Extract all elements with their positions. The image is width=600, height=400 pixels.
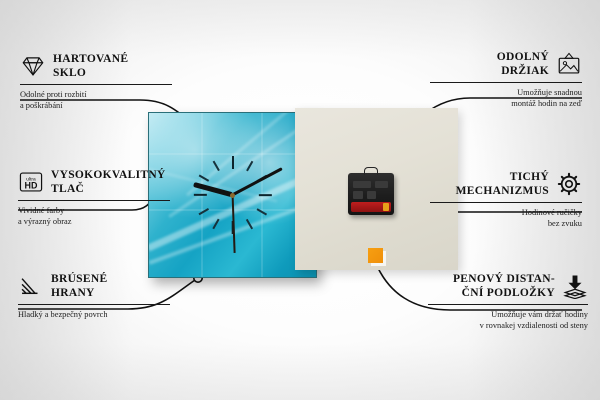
feature-title: BRÚSENÉHRANY — [51, 272, 107, 300]
clock-center-cap — [230, 193, 235, 198]
mechanism-detail — [375, 181, 388, 188]
product-clock-face — [148, 112, 317, 278]
mechanism-hanger-hook — [364, 167, 378, 175]
feature-high-quality-print: ultra HD VYSOKOKVALITNÝTLAČ Vividné farb… — [18, 168, 170, 227]
clock-pane-line — [149, 153, 316, 155]
feature-silent-mechanism: TICHÝMECHANIZMUS Hodinové ručičkybez zvu… — [430, 170, 582, 229]
feature-description: Umožňuje vám držať hodinyv rovnakej vzdi… — [428, 309, 588, 331]
feature-title: VYSOKOKVALITNÝTLAČ — [51, 168, 166, 196]
mechanism-detail — [353, 181, 371, 188]
mechanism-detail — [367, 191, 376, 199]
clock-mechanism — [348, 173, 394, 215]
feature-description: Hladký a bezpečný povrch — [18, 309, 170, 320]
feature-ground-edges: BRÚSENÉHRANY Hladký a bezpečný povrch — [18, 272, 170, 320]
ultra-hd-icon: ultra HD — [18, 169, 44, 195]
feature-divider — [20, 84, 172, 85]
foam-spacer-pad — [368, 248, 383, 263]
feature-divider — [430, 202, 582, 203]
feature-header: BRÚSENÉHRANY — [18, 272, 170, 300]
feature-title: ODOLNÝDRŽIAK — [497, 50, 549, 78]
feature-divider — [18, 200, 170, 201]
feature-header: TICHÝMECHANIZMUS — [430, 170, 582, 198]
feature-description: Hodinové ručičkybez zvuku — [430, 207, 582, 229]
feature-foam-spacers: PENOVÝ DISTAN-ČNÍ PODLOŽKY Umožňuje vám … — [428, 272, 588, 331]
feature-title: PENOVÝ DISTAN-ČNÍ PODLOŽKY — [453, 272, 555, 300]
feature-title: HARTOVANÉSKLO — [53, 52, 128, 80]
feature-header: PENOVÝ DISTAN-ČNÍ PODLOŽKY — [428, 272, 588, 300]
ground-edges-icon — [18, 273, 44, 299]
feature-divider — [430, 82, 582, 83]
feature-description: Umožňuje snadnoumontáž hodin na zeď — [430, 87, 582, 109]
feature-header: ultra HD VYSOKOKVALITNÝTLAČ — [18, 168, 170, 196]
feature-description: Vividné farbya výrazný obraz — [18, 205, 170, 227]
feature-description: Odolné proti rozbitía poškrábání — [20, 89, 172, 111]
feature-divider — [428, 304, 588, 305]
feature-header: ODOLNÝDRŽIAK — [430, 50, 582, 78]
feature-title: TICHÝMECHANIZMUS — [456, 170, 549, 198]
infographic-stage: HARTOVANÉSKLO Odolné proti rozbitía pošk… — [0, 0, 600, 400]
feature-tempered-glass: HARTOVANÉSKLO Odolné proti rozbitía pošk… — [20, 52, 172, 111]
feature-divider — [18, 304, 170, 305]
foam-spacer-icon — [562, 273, 588, 299]
gear-icon — [556, 171, 582, 197]
diamond-icon — [20, 53, 46, 79]
svg-text:HD: HD — [25, 181, 38, 191]
feature-durable-hanger: ODOLNÝDRŽIAK Umožňuje snadnoumontáž hodi… — [430, 50, 582, 109]
picture-hanger-icon — [556, 51, 582, 77]
mechanism-battery — [351, 202, 391, 212]
mechanism-detail — [353, 191, 363, 199]
feature-header: HARTOVANÉSKLO — [20, 52, 172, 80]
